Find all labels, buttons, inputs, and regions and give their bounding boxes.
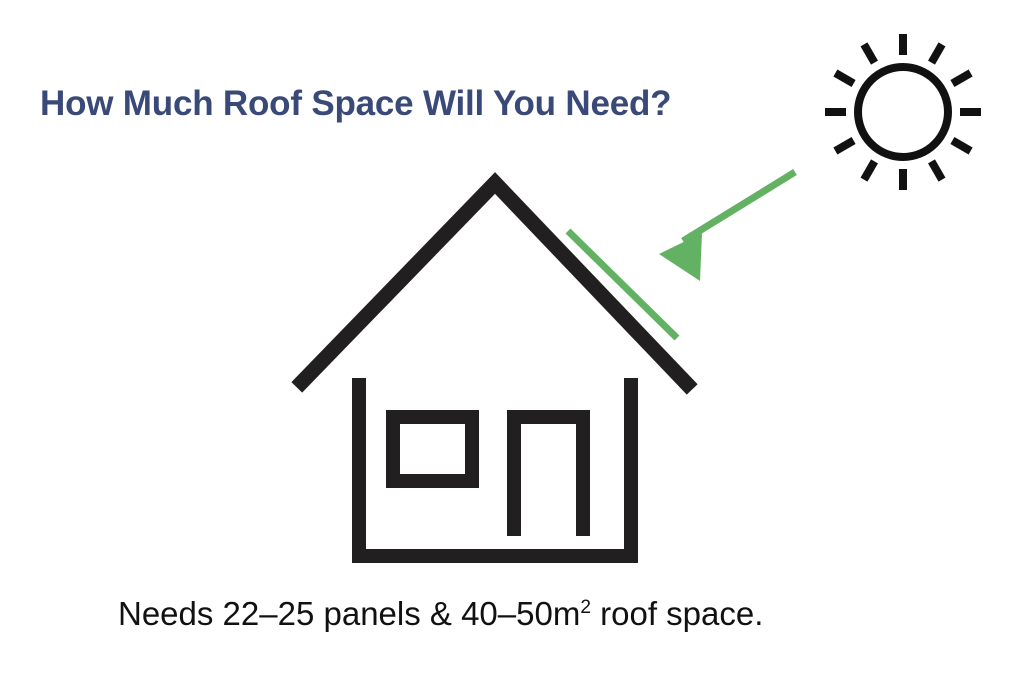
sun-ray [932, 44, 943, 62]
arrow-head [659, 233, 702, 281]
sun-ray [932, 161, 943, 179]
sunlight-arrow-icon [659, 172, 795, 281]
caption-trail: roof space. [591, 595, 763, 632]
sun-ray [835, 141, 853, 152]
sun-rays [825, 34, 981, 190]
sun-ray [952, 73, 970, 84]
sun-ray [952, 141, 970, 152]
arrow-shaft [683, 172, 795, 241]
sun-ray [864, 44, 875, 62]
infographic-canvas: How Much Roof Space Will You Need? [0, 0, 1024, 683]
caption-text: Needs 22–25 panels & 40–50m2 roof space. [118, 592, 763, 636]
caption-unit-superscript: 2 [580, 597, 591, 618]
sun-ray [835, 73, 853, 84]
sun-icon [825, 34, 981, 190]
house-icon [302, 183, 687, 556]
window-icon [393, 417, 472, 481]
sun-ray [864, 161, 875, 179]
caption-lead: Needs 22–25 panels & 40–50m [118, 595, 580, 632]
roof-shape [302, 183, 687, 384]
sun-disc-outline [858, 67, 948, 157]
door-icon [514, 417, 583, 536]
illustration-artwork [0, 0, 1024, 683]
